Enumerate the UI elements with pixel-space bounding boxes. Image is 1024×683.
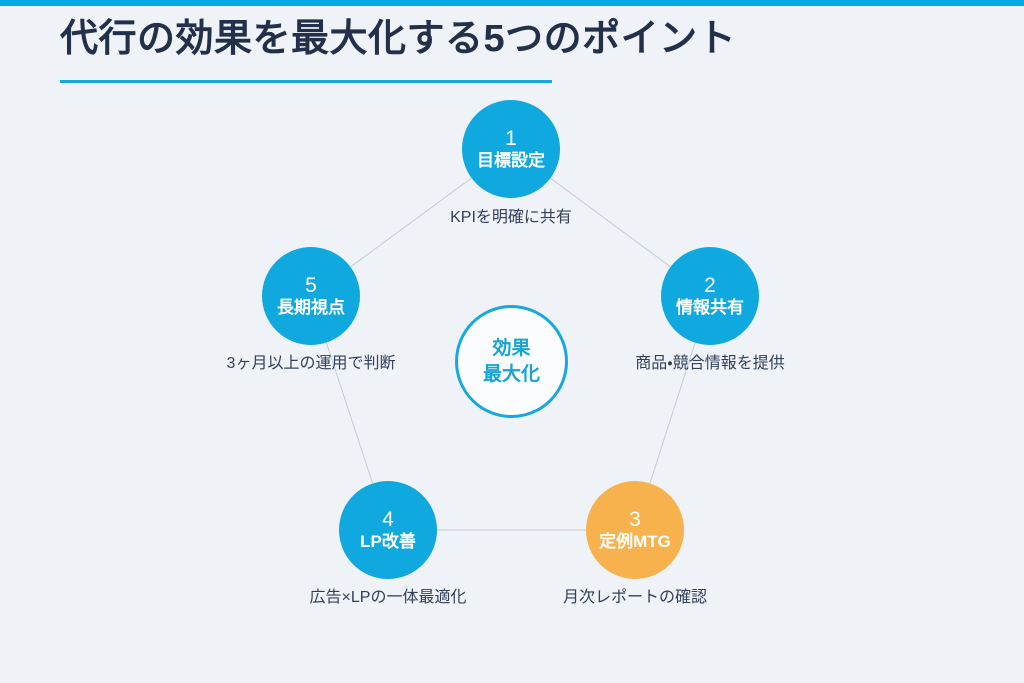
diagram-node-1[interactable]: 1目標設定 [462,100,560,198]
node-label: LP改善 [360,532,416,552]
diagram-node-3[interactable]: 3定例MTG [586,481,684,579]
pentagon-diagram: 1目標設定2情報共有3定例MTG4LP改善5長期視点 KPIを明確に共有商品・競… [0,0,1024,683]
diagram-node-5[interactable]: 5長期視点 [262,247,360,345]
node-number: 4 [382,509,394,531]
node-caption-2: 商品・競合情報を提供 [635,354,784,373]
diagram-node-4[interactable]: 4LP改善 [339,481,437,579]
node-label: 情報共有 [676,298,744,318]
node-caption-1: KPIを明確に共有 [450,208,572,227]
node-number: 3 [629,509,641,531]
node-caption-4: 広告×LPの一体最適化 [310,588,467,607]
node-number: 5 [305,275,317,297]
node-label: 目標設定 [477,151,545,171]
center-hub: 効果 最大化 [455,305,568,418]
node-caption-5: 3ヶ月以上の運用で判断 [227,354,396,373]
center-hub-line-2: 最大化 [483,362,540,387]
node-number: 2 [704,275,716,297]
node-number: 1 [505,128,517,150]
diagram-node-2[interactable]: 2情報共有 [661,247,759,345]
node-label: 定例MTG [599,532,671,552]
node-label: 長期視点 [277,298,345,318]
node-caption-3: 月次レポートの確認 [563,588,707,607]
center-hub-line-1: 効果 [492,336,530,361]
